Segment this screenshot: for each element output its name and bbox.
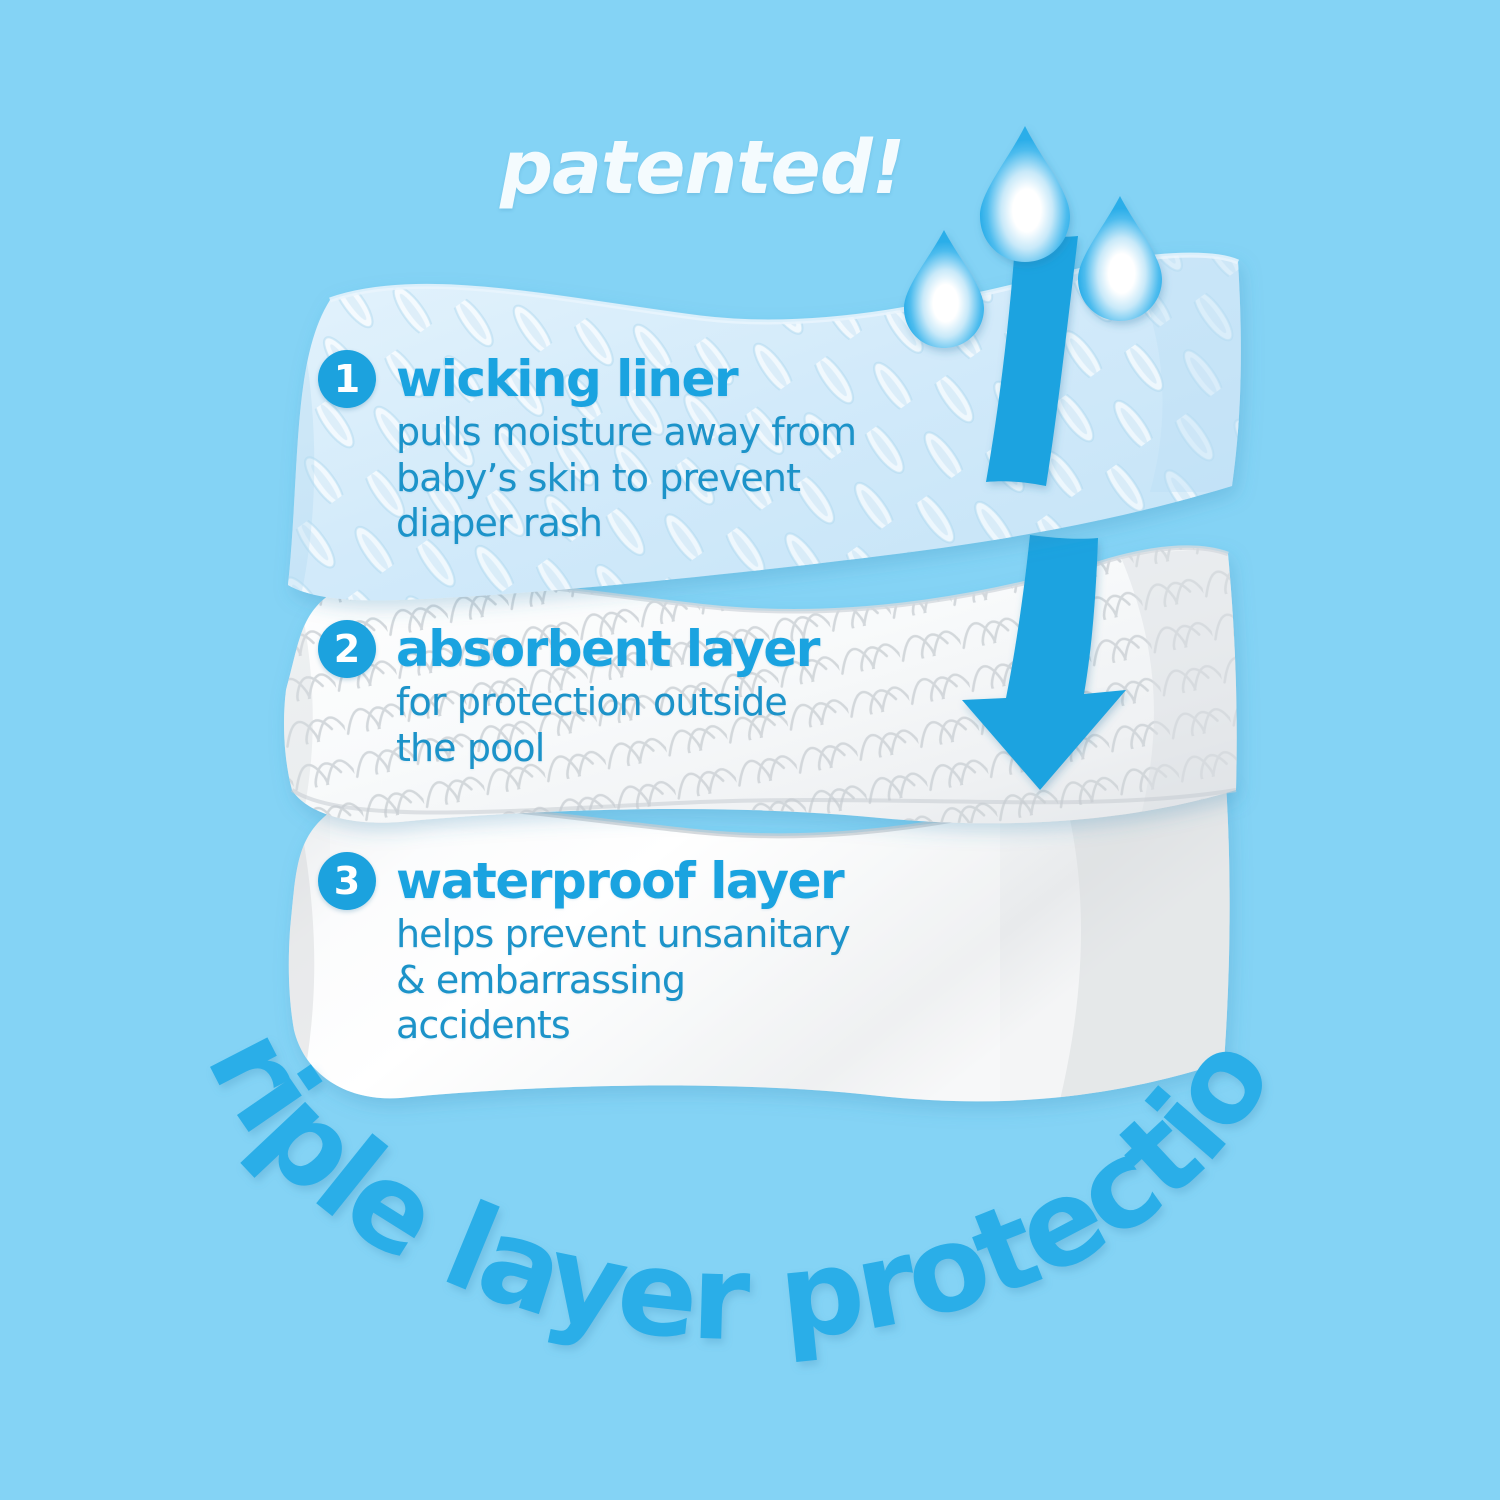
layer-description-line: diaper rash (396, 501, 856, 547)
arc-caption-wrap: triple layer protection (0, 1030, 1500, 1430)
layer-title-2: absorbent layer (396, 623, 819, 676)
layer-description-line: the pool (396, 726, 819, 772)
layer-title-1: wicking liner (396, 353, 737, 406)
layer-block-waterproof-layer: 3 waterproof layer helps prevent unsanit… (318, 852, 850, 1049)
layer-block-wicking-liner: 1 wicking liner pulls moisture away from… (318, 350, 856, 547)
layer-description-line: baby’s skin to prevent (396, 456, 856, 502)
layer-number-badge-3: 3 (318, 852, 376, 910)
layer-description-line: pulls moisture away from (396, 410, 856, 456)
arc-caption-text: triple layer protection (0, 1030, 1297, 1367)
layer-number-badge-2: 2 (318, 620, 376, 678)
layer-heading-row: 3 waterproof layer (318, 852, 850, 910)
layer-description-line: for protection outside (396, 680, 819, 726)
layer-description-line: & embarrassing (396, 958, 850, 1004)
layer-number-badge-1: 1 (318, 350, 376, 408)
layer-block-absorbent-layer: 2 absorbent layer for protection outside… (318, 620, 819, 771)
layer-heading-row: 2 absorbent layer (318, 620, 819, 678)
water-drop-icon-top (980, 126, 1070, 262)
layer-description-1: pulls moisture away from baby’s skin to … (318, 410, 856, 547)
layer-description-line: helps prevent unsanitary (396, 912, 850, 958)
infographic-canvas: patented! 1 wicking liner pulls moisture… (0, 0, 1500, 1500)
water-drop-icon-left (904, 230, 984, 348)
patented-headline: patented! (500, 131, 960, 205)
water-drop-icon-right (1078, 196, 1162, 321)
layer-heading-row: 1 wicking liner (318, 350, 856, 408)
layer-description-2: for protection outside the pool (318, 680, 819, 771)
layer-title-3: waterproof layer (396, 855, 843, 908)
layer-description-3: helps prevent unsanitary & embarrassing … (318, 912, 850, 1049)
